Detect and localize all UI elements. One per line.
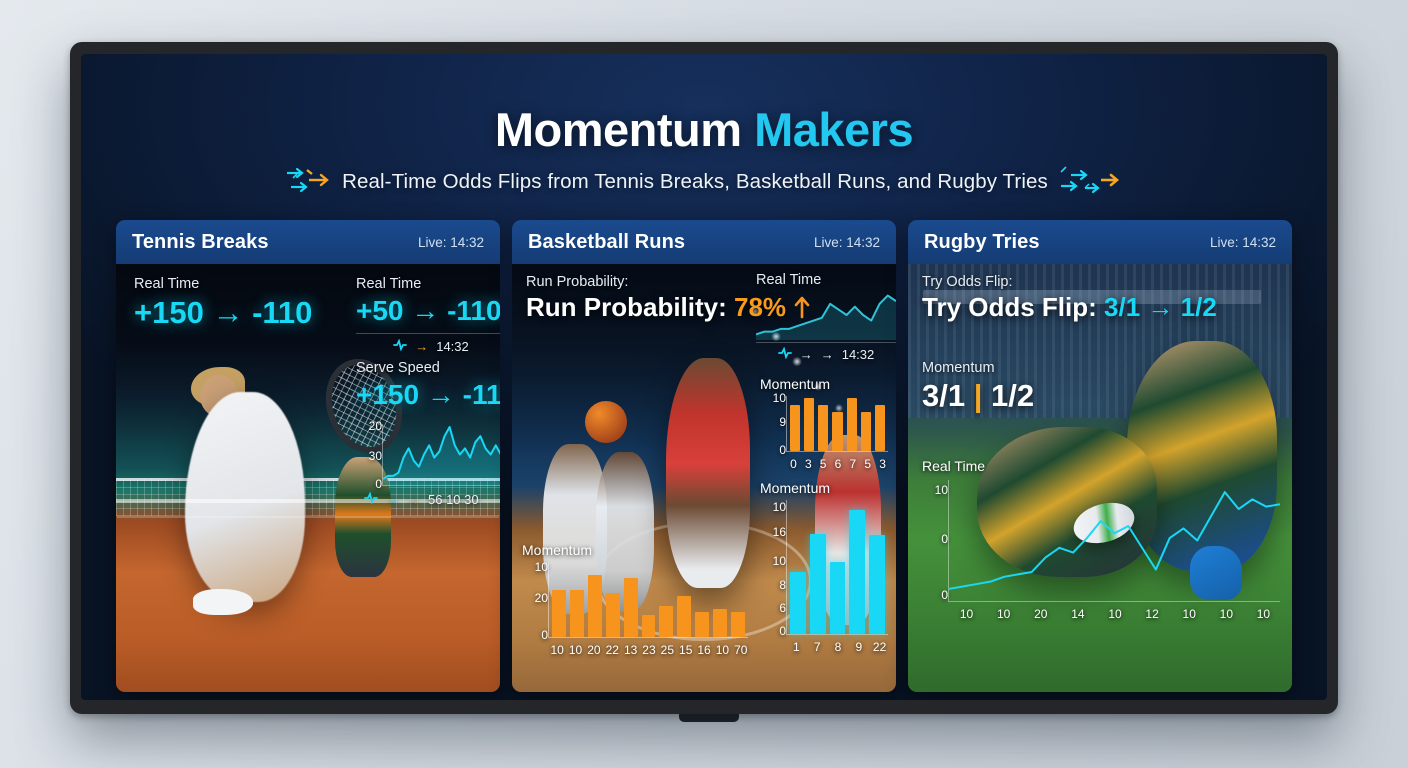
odds-to: -110 [463, 379, 500, 410]
basketball-ball [585, 401, 627, 443]
panel-live-tennis: Live: 14:32 [418, 235, 484, 250]
x-tick: 3 [875, 457, 890, 471]
arrow-right-icon: → [212, 295, 243, 330]
page-title: Momentum Makers [81, 102, 1327, 157]
panel-live-rugby: Live: 14:32 [1210, 235, 1276, 250]
bar [731, 612, 745, 637]
x-tick: 15 [677, 643, 695, 657]
chart-basketball-momentum-bottom: Momentum 10 20 0 1010202213232515161070 [522, 542, 750, 638]
panel-live-basketball: Live: 14:32 [814, 235, 880, 250]
bar [830, 562, 846, 634]
rugby-momentum-values: 3/1 | 1/2 [922, 378, 1034, 414]
x-tick: 10 [1171, 607, 1208, 621]
x-tick: 12 [1134, 607, 1171, 621]
tennis-serve-label: Serve Speed [356, 360, 500, 376]
bar [677, 596, 691, 637]
x-tick: 22 [869, 640, 890, 654]
x-axis: 1010202213232515161070 [548, 643, 750, 657]
panel-title-rugby: Rugby Tries [924, 231, 1040, 254]
y-tick: 9 [779, 415, 786, 429]
y-tick: 8 [779, 578, 786, 592]
tennis-realtime-right-label: Real Time [356, 276, 500, 292]
x-tick: 23 [640, 643, 658, 657]
x-tick: 0 [786, 457, 801, 471]
x-tick: 8 [828, 640, 849, 654]
basketball-run-probability: Run Probability: Run Probability: 78% [526, 274, 766, 323]
x-axis: 0356753 [786, 457, 890, 471]
bar-series [786, 500, 888, 635]
divider [756, 342, 896, 343]
panel-rugby[interactable]: Rugby Tries Live: 14:32 Try Odds Flip: T… [908, 220, 1292, 692]
x-tick: 10 [1208, 607, 1245, 621]
basketball-mini-row: → → 14:32 [756, 347, 896, 362]
x-axis: 101020141012101010 [948, 607, 1282, 621]
x-tick: 5 [816, 457, 831, 471]
y-tick: 0 [941, 588, 948, 602]
y-tick: 0 [779, 443, 786, 457]
odds-to: -110 [252, 295, 312, 330]
chart-basketball-realtime-spark [756, 290, 896, 340]
bar [552, 590, 566, 637]
tennis-player-shoe [193, 589, 253, 615]
rugby-momentum-label: Momentum [922, 360, 1034, 376]
tennis-realtime-left-label: Real Time [134, 276, 312, 292]
y-tick: 16 [773, 525, 786, 539]
chart-title: Momentum [760, 376, 890, 392]
chart-tennis-serve-line: 20 30 0 [356, 424, 500, 486]
panel-body-tennis: Real Time +150 → -110 Real Time +50 → -1… [116, 264, 500, 692]
headline-prefix: Run Probability: [526, 292, 734, 322]
bar [847, 398, 857, 451]
y-tick: 0 [779, 624, 786, 638]
bar-series [786, 396, 888, 452]
y-axis: 10 20 0 [522, 562, 548, 638]
bar [818, 405, 828, 451]
bar [875, 405, 885, 451]
bar [790, 572, 806, 634]
x-tick: 9 [848, 640, 869, 654]
x-tick: 10 [985, 607, 1022, 621]
title-main: Momentum [495, 103, 754, 156]
x-tick: 6 [831, 457, 846, 471]
bar [832, 412, 842, 451]
bar [588, 575, 602, 638]
chart-basketball-momentum-cyan: Momentum 10 16 10 8 6 0 178922 [760, 480, 890, 635]
y-tick: 0 [375, 477, 382, 491]
y-tick: 6 [779, 601, 786, 615]
arrow-right-icon: → [427, 379, 455, 410]
panel-header-rugby: Rugby Tries Live: 14:32 [908, 220, 1292, 264]
y-tick: 20 [535, 591, 548, 605]
panel-title-tennis: Tennis Breaks [132, 231, 269, 254]
headline-to: 1/2 [1181, 292, 1217, 322]
y-tick: 30 [369, 449, 382, 463]
bar [861, 412, 871, 451]
bar [810, 534, 826, 635]
odds-from: +50 [356, 295, 404, 326]
x-tick: 7 [807, 640, 828, 654]
basketball-realtime-label: Real Time [756, 272, 896, 288]
tennis-realtime-left-odds: +150 → -110 [134, 295, 312, 331]
tennis-player [185, 392, 305, 602]
bar [642, 615, 656, 637]
tv-screen: Momentum Makers Real-Time Odds Flips fro… [81, 54, 1327, 700]
divider [356, 333, 500, 334]
odds-to: -110 [447, 295, 500, 326]
chart-rugby-realtime-line: Real Time 10 0 0 101020141012101010 [922, 458, 1282, 602]
bar [869, 535, 885, 634]
arrow-right-icon: → [411, 295, 439, 326]
y-tick: 10 [773, 554, 786, 568]
y-axis: 10 16 10 8 6 0 [760, 500, 786, 635]
x-tick: 7 [845, 457, 860, 471]
x-tick: 1 [786, 640, 807, 654]
basketball-mini-time: 14:32 [842, 347, 875, 362]
basketball-headline: Run Probability: 78% [526, 292, 766, 323]
panel-body-rugby: Try Odds Flip: Try Odds Flip: 3/1 → 1/2 … [908, 264, 1292, 692]
arrow-right-icon: → [407, 492, 420, 507]
panel-header-basketball: Basketball Runs Live: 14:32 [512, 220, 896, 264]
title-accent: Makers [754, 103, 913, 156]
panel-body-basketball: Run Probability: Run Probability: 78% Re… [512, 264, 896, 692]
arrow-right-icon: → [800, 347, 813, 362]
panel-header-tennis: Tennis Breaks Live: 14:32 [116, 220, 500, 264]
arrow-right-icon: → [415, 339, 428, 354]
x-tick: 14 [1059, 607, 1096, 621]
arrow-right-icon: → [386, 492, 399, 507]
chart-title: Real Time [922, 458, 1282, 474]
arrow-right-icon: → [821, 347, 834, 362]
panel-tennis[interactable]: Tennis Breaks Live: 14:32 Real Time [116, 220, 500, 692]
tennis-footer-values: 56 10 30 [428, 492, 479, 507]
plot-area: 10 9 0 0356753 [760, 396, 890, 452]
x-axis: 178922 [786, 640, 890, 654]
basketball-small-label: Run Probability: [526, 274, 766, 290]
panel-title-basketball: Basketball Runs [528, 231, 685, 254]
bar [790, 405, 800, 451]
tennis-realtime-left: Real Time +150 → -110 [134, 276, 312, 331]
area-fill [756, 296, 896, 340]
pulse-icon [393, 339, 407, 354]
area-fill [383, 427, 500, 485]
page-subtitle: Real-Time Odds Flips from Tennis Breaks,… [342, 170, 1048, 194]
y-axis: 10 9 0 [760, 396, 786, 452]
y-tick: 10 [935, 483, 948, 497]
bar [624, 578, 638, 637]
x-tick: 22 [603, 643, 621, 657]
momentum-to: 1/2 [991, 378, 1034, 413]
pulse-icon [778, 347, 792, 362]
x-tick: 5 [860, 457, 875, 471]
x-tick: 10 [566, 643, 584, 657]
bar [804, 398, 814, 451]
tennis-serve-block: Serve Speed +150 → -110 [356, 360, 500, 411]
bar-series [548, 562, 748, 638]
y-axis: 10 0 0 [922, 480, 948, 602]
chart-title: Momentum [522, 542, 750, 558]
plot-area: 10 0 0 101020141012101010 [922, 480, 1282, 602]
separator-icon: | [974, 378, 983, 413]
y-tick: 10 [535, 560, 548, 574]
x-tick: 10 [948, 607, 985, 621]
plot-area: 10 20 0 1010202213232515161070 [522, 562, 750, 638]
x-tick: 16 [695, 643, 713, 657]
pulse-icon [364, 492, 378, 507]
tv-frame: Momentum Makers Real-Time Odds Flips fro… [70, 42, 1338, 714]
momentum-from: 3/1 [922, 378, 965, 413]
y-tick: 10 [773, 391, 786, 405]
rugby-small-label: Try Odds Flip: [922, 274, 1222, 290]
bar [695, 612, 709, 637]
x-tick: 20 [1022, 607, 1059, 621]
rugby-headline: Try Odds Flip: 3/1 → 1/2 [922, 292, 1222, 323]
bar [570, 590, 584, 637]
chart-basketball-momentum-orange: Momentum 10 9 0 0356753 [760, 376, 890, 452]
tennis-realtime-right-odds: +50 → -110 [356, 295, 500, 327]
x-tick: 10 [1245, 607, 1282, 621]
headline-prefix: Try Odds Flip: [922, 292, 1104, 322]
tennis-footer-mini: → → 56 10 30 [364, 492, 479, 507]
x-tick: 13 [621, 643, 639, 657]
y-tick: 10 [773, 500, 786, 514]
panel-basketball[interactable]: Basketball Runs Live: 14:32 Run Probabil… [512, 220, 896, 692]
x-tick: 25 [658, 643, 676, 657]
headline-from: 3/1 [1104, 292, 1140, 322]
bar [659, 606, 673, 637]
y-tick: 20 [369, 419, 382, 433]
basketball-realtime-block: Real Time → → 14:32 [756, 272, 896, 362]
x-tick: 10 [548, 643, 566, 657]
tennis-serve-odds: +150 → -110 [356, 379, 500, 411]
tennis-mini-row: → 14:32 [356, 339, 500, 354]
x-tick: 10 [1096, 607, 1133, 621]
line-plot [382, 424, 500, 486]
chart-title: Momentum [760, 480, 890, 496]
x-tick: 10 [713, 643, 731, 657]
bar [606, 593, 620, 637]
rugby-momentum-block: Momentum 3/1 | 1/2 [922, 360, 1034, 414]
x-tick: 70 [732, 643, 750, 657]
tennis-realtime-right: Real Time +50 → -110 → 14:32 [356, 276, 500, 354]
arrows-right-decoration-icon [1057, 164, 1123, 199]
tennis-mini-time: 14:32 [436, 339, 469, 354]
line-plot [948, 480, 1280, 602]
subtitle-row: Real-Time Odds Flips from Tennis Breaks,… [81, 164, 1327, 199]
panels-row: Tennis Breaks Live: 14:32 Real Time [116, 220, 1292, 692]
arrows-right-decoration-icon [285, 164, 333, 199]
arrow-right-icon: → [1147, 292, 1173, 322]
y-tick: 0 [541, 628, 548, 642]
odds-from: +150 [356, 379, 419, 410]
line-series [949, 492, 1280, 589]
rugby-try-odds-flip: Try Odds Flip: Try Odds Flip: 3/1 → 1/2 [922, 274, 1222, 323]
bar [713, 609, 727, 637]
odds-from: +150 [134, 295, 204, 330]
y-axis: 20 30 0 [356, 424, 382, 486]
x-tick: 3 [801, 457, 816, 471]
x-tick: 20 [585, 643, 603, 657]
bar [849, 510, 865, 634]
y-tick: 0 [941, 532, 948, 546]
plot-area: 10 16 10 8 6 0 178922 [760, 500, 890, 635]
